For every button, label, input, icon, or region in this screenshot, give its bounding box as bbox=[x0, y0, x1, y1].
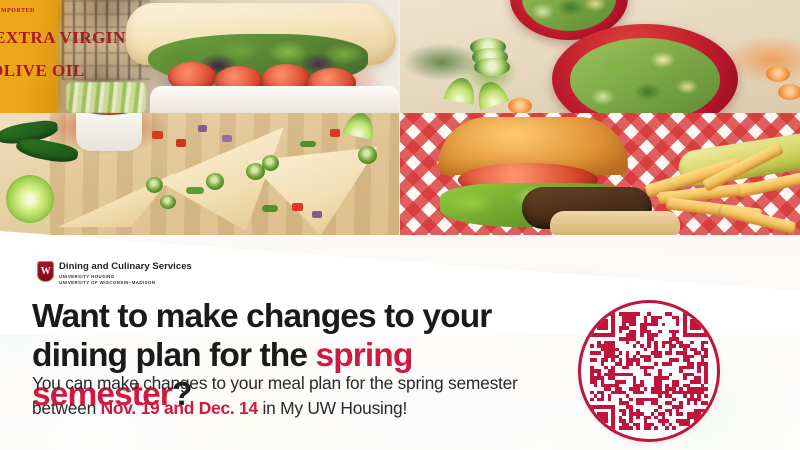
qr-code[interactable] bbox=[578, 300, 720, 442]
uw-crest-icon: W bbox=[37, 261, 54, 282]
poster-content: W Dining and Culinary Services UNIVERSIT… bbox=[0, 0, 800, 450]
dining-plan-promo-poster: IMPORTED EXTRA VIRGIN OLIVE OIL bbox=[0, 0, 800, 450]
brand-institution: UNIVERSITY OF WISCONSIN–MADISON bbox=[59, 280, 192, 285]
subline-part-2: in My UW Housing! bbox=[258, 398, 407, 418]
qr-code-matrix bbox=[590, 312, 708, 430]
brand-unit: UNIVERSITY HOUSING bbox=[59, 274, 192, 279]
headline-line-1: Want to make changes to your bbox=[32, 297, 572, 336]
headline-line-2-prefix: dining plan for the bbox=[32, 337, 315, 374]
brand-name: Dining and Culinary Services bbox=[59, 262, 192, 272]
brand-logo: W Dining and Culinary Services UNIVERSIT… bbox=[37, 261, 192, 285]
brand-logo-text: Dining and Culinary Services UNIVERSITY … bbox=[59, 261, 192, 285]
subline: You can make changes to your meal plan f… bbox=[32, 371, 552, 420]
subline-dates-accent: Nov. 19 and Dec. 14 bbox=[101, 398, 258, 418]
crest-letter: W bbox=[41, 267, 51, 277]
